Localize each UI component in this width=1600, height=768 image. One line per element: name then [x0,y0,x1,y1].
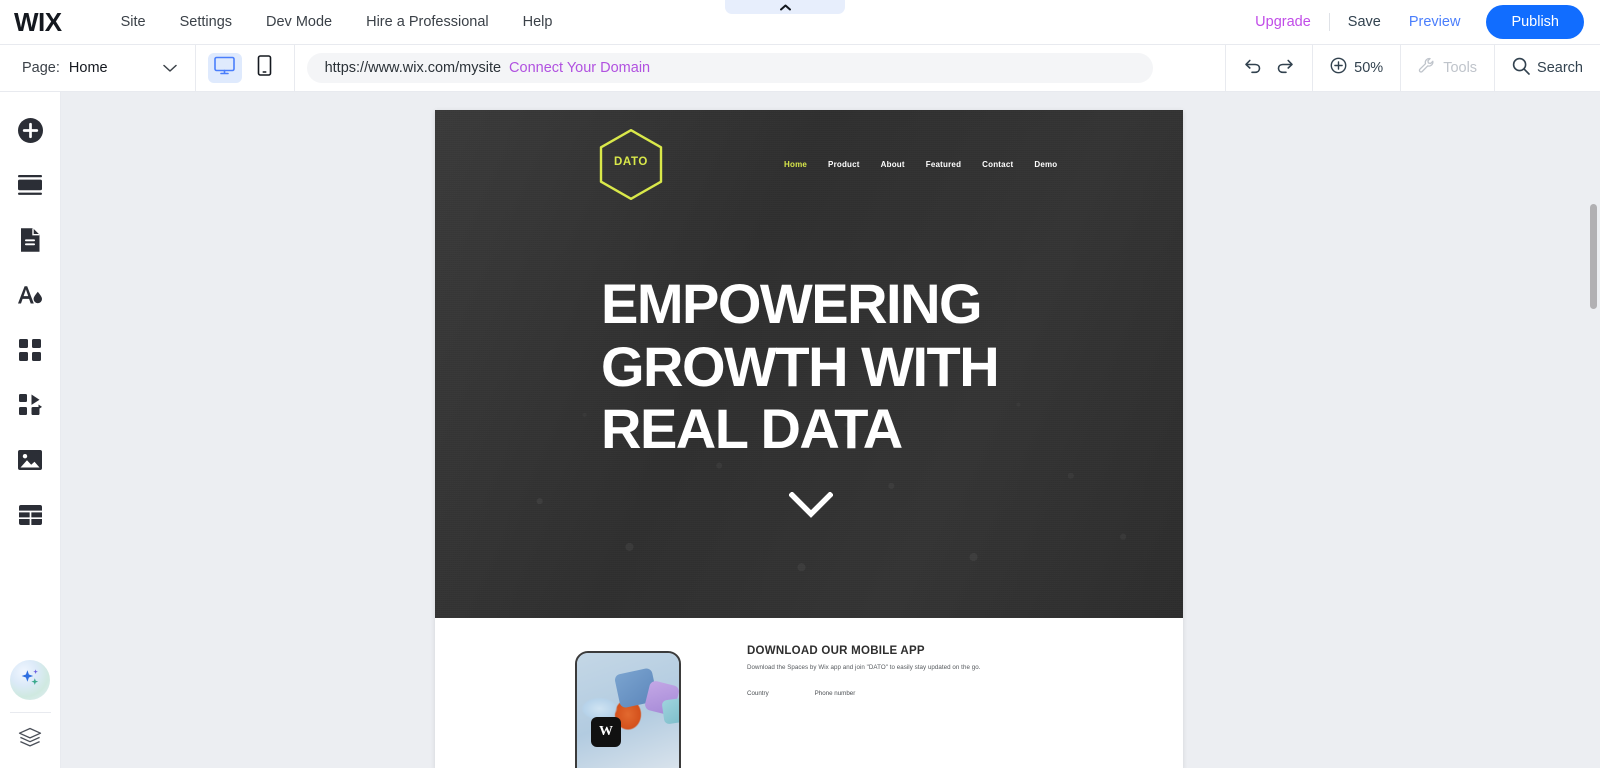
upgrade-link[interactable]: Upgrade [1241,8,1325,36]
chevron-up-icon [780,4,791,11]
blocks-icon [18,393,43,422]
site-nav-contact[interactable]: Contact [982,160,1013,169]
collapse-toolbar-tab[interactable] [725,0,845,14]
site-nav-demo[interactable]: Demo [1034,160,1057,169]
site-nav-links: Home Product About Featured Contact Demo [784,160,1057,169]
download-heading[interactable]: DOWNLOAD OUR MOBILE APP [747,645,925,657]
top-menu: Site Settings Dev Mode Hire a Profession… [104,8,570,36]
ai-sparkle-icon [19,667,41,694]
desktop-view-icon [214,56,235,80]
image-icon [17,449,43,476]
wix-editor: WIX Site Settings Dev Mode Hire a Profes… [0,0,1600,768]
zoom-button[interactable]: 50% [1330,57,1383,79]
tools-control[interactable]: Tools [1401,45,1494,92]
preview-button[interactable]: Preview [1395,8,1475,36]
search-button[interactable]: Search [1512,57,1583,80]
zoom-in-icon [1330,57,1347,79]
theme-paint-icon [16,283,44,313]
phone-artwork [577,653,679,768]
spaces-app-badge: W [591,717,621,747]
menu-item-settings[interactable]: Settings [163,8,249,36]
redo-icon[interactable] [1276,58,1295,79]
site-nav-product[interactable]: Product [828,160,860,169]
download-app-section[interactable]: W DOWNLOAD OUR MOBILE APP Download the S… [435,618,1183,768]
sidebar-item-add-elements[interactable] [0,105,61,160]
tools-label: Tools [1443,60,1477,76]
sidebar-bottom [0,654,61,768]
divider [1329,13,1330,31]
phone-mockup: W [575,651,681,768]
zoom-control[interactable]: 50% [1313,45,1400,92]
sidebar-item-site-design[interactable] [0,270,61,325]
sidebar-item-blocks[interactable] [0,380,61,435]
sidebar-item-pages[interactable] [0,215,61,270]
mobile-view-button[interactable] [248,53,282,83]
editor-toolbar: Page: Home [0,45,1600,92]
editor-canvas[interactable]: DATO Home Product About Featured Contact… [61,92,1600,768]
sidebar-item-ai-assistant[interactable] [10,660,50,700]
site-nav-home[interactable]: Home [784,160,807,169]
zoom-value: 50% [1354,60,1383,76]
download-form-labels: Country Phone number [747,690,855,697]
vertical-scrollbar[interactable] [1586,92,1600,768]
page-label: Page: [22,60,60,76]
undo-icon[interactable] [1243,58,1262,79]
layers-icon [18,727,42,754]
site-nav-about[interactable]: About [881,160,905,169]
toolbar-right-actions: 50% Tools [1225,45,1600,92]
site-header: DATO Home Product About Featured Contact… [435,110,1183,230]
chevron-down-icon [163,64,177,73]
country-label: Country [747,690,769,697]
search-label: Search [1537,60,1583,76]
site-preview-frame[interactable]: DATO Home Product About Featured Contact… [435,110,1183,768]
wix-spaces-logo: W [599,724,613,740]
sidebar-item-layers[interactable] [0,713,61,768]
wrench-icon [1418,57,1436,80]
apps-grid-icon [18,338,42,367]
save-button[interactable]: Save [1334,8,1395,36]
menu-item-help[interactable]: Help [506,8,570,36]
divider [294,45,295,92]
scrollbar-thumb[interactable] [1590,204,1597,309]
tools-button[interactable]: Tools [1418,57,1477,80]
phone-number-label: Phone number [815,690,856,697]
history-controls [1226,45,1312,92]
search-control[interactable]: Search [1495,45,1600,92]
publish-button[interactable]: Publish [1486,5,1584,39]
section-icon [17,174,43,201]
site-url-bar[interactable]: https://www.wix.com/mysite Connect Your … [307,53,1153,83]
connect-domain-link[interactable]: Connect Your Domain [509,60,650,76]
sidebar-item-apps[interactable] [0,325,61,380]
download-subtitle[interactable]: Download the Spaces by Wix app and join … [747,664,980,671]
site-logo-text[interactable]: DATO [598,156,664,168]
hero-section[interactable]: DATO Home Product About Featured Contact… [435,110,1183,618]
mobile-view-icon [257,55,272,81]
menu-item-site[interactable]: Site [104,8,163,36]
page-selector[interactable]: Page: Home [0,45,195,91]
top-bar-actions: Upgrade Save Preview Publish [1241,5,1600,39]
left-sidebar [0,92,61,768]
page-value: Home [69,60,108,76]
menu-item-hire-a-professional[interactable]: Hire a Professional [349,8,506,36]
art-shape-teal [661,697,681,724]
menu-item-dev-mode[interactable]: Dev Mode [249,8,349,36]
site-url-value: https://www.wix.com/mysite [325,60,501,76]
view-toggles [196,53,294,83]
chevron-down-icon[interactable] [789,492,833,523]
sidebar-item-cms[interactable] [0,490,61,545]
table-icon [18,504,43,531]
pages-icon [19,227,41,258]
desktop-view-button[interactable] [208,53,242,83]
search-icon [1512,57,1530,80]
wix-logo[interactable]: WIX [14,7,62,38]
sidebar-item-media[interactable] [0,435,61,490]
hero-headline[interactable]: EMPOWERING GROWTH WITH REAL DATA [601,273,1031,461]
sidebar-item-add-section[interactable] [0,160,61,215]
site-nav-featured[interactable]: Featured [926,160,961,169]
plus-circle-icon [17,117,44,149]
